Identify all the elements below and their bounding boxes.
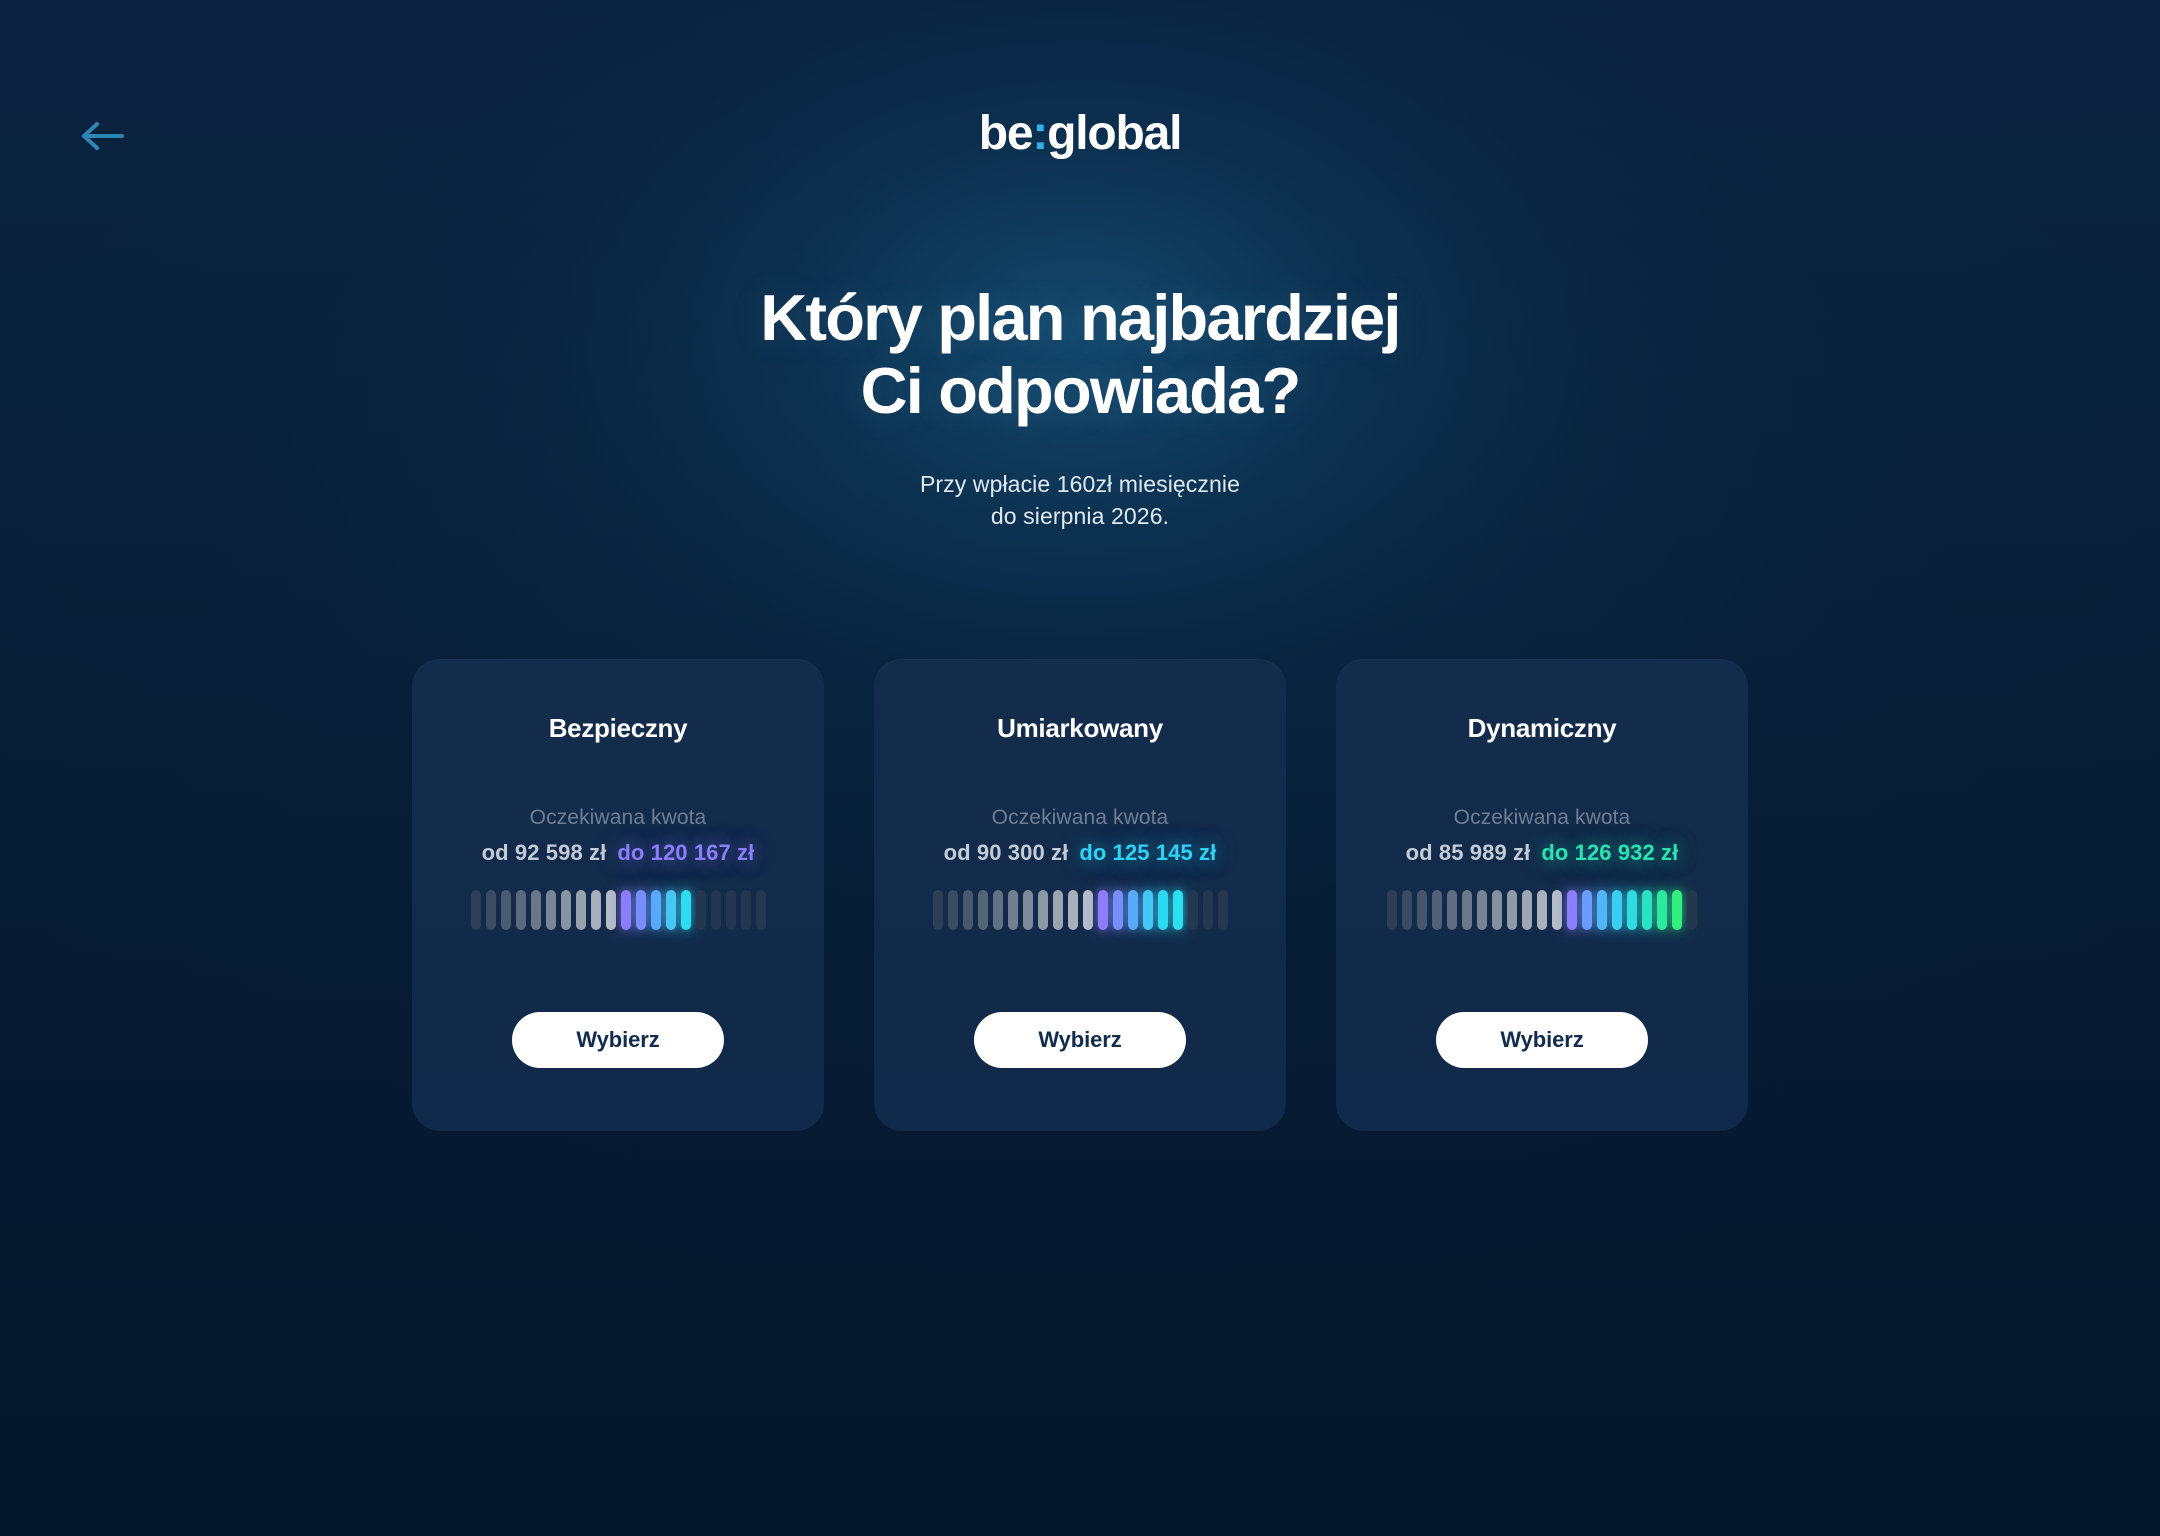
meter-bar xyxy=(531,890,541,930)
plan-card[interactable]: Dynamiczny Oczekiwana kwota od 85 989 zł… xyxy=(1336,659,1748,1131)
meter-bar xyxy=(1173,890,1183,930)
plan-name: Dynamiczny xyxy=(1468,713,1617,744)
hero-section: Który plan najbardziej Ci odpowiada? Prz… xyxy=(0,282,2160,533)
plan-amount-to: do 125 145 zł xyxy=(1079,840,1216,865)
meter-bar xyxy=(1477,890,1487,930)
meter-bar xyxy=(1462,890,1472,930)
plan-card-list: Bezpieczny Oczekiwana kwota od 92 598 zł… xyxy=(0,659,2160,1131)
meter-bar xyxy=(1552,890,1562,930)
meter-bar xyxy=(1612,890,1622,930)
plan-amount-to: do 126 932 zł xyxy=(1541,840,1678,865)
meter-bar xyxy=(756,890,766,930)
meter-bar xyxy=(1008,890,1018,930)
meter-bar xyxy=(471,890,481,930)
plan-amount-block: Oczekiwana kwota od 90 300 złdo 125 145 … xyxy=(874,806,1286,866)
meter-bar xyxy=(1522,890,1532,930)
meter-bar xyxy=(1672,890,1682,930)
meter-bar xyxy=(1053,890,1063,930)
meter-bar xyxy=(1657,890,1667,930)
meter-bar xyxy=(576,890,586,930)
brand-logo: be:global xyxy=(0,110,2160,158)
meter-bar xyxy=(963,890,973,930)
meter-bar xyxy=(516,890,526,930)
meter-bar xyxy=(591,890,601,930)
plan-name: Bezpieczny xyxy=(549,713,688,744)
choose-plan-button[interactable]: Wybierz xyxy=(1436,1012,1648,1068)
page-subtitle: Przy wpłacie 160zł miesięcznie do sierpn… xyxy=(0,468,2160,533)
meter-bar xyxy=(978,890,988,930)
page-title: Który plan najbardziej Ci odpowiada? xyxy=(0,282,2160,428)
meter-bar xyxy=(651,890,661,930)
plan-name: Umiarkowany xyxy=(997,713,1163,744)
choose-plan-button[interactable]: Wybierz xyxy=(974,1012,1186,1068)
meter-bar xyxy=(1687,890,1697,930)
meter-bar xyxy=(1582,890,1592,930)
meter-bar xyxy=(546,890,556,930)
brand-logo-colon: : xyxy=(1032,107,1047,160)
meter-bar xyxy=(1417,890,1427,930)
plan-amount-label: Oczekiwana kwota xyxy=(874,806,1286,830)
meter-bar xyxy=(1387,890,1397,930)
meter-bar xyxy=(1068,890,1078,930)
meter-bar xyxy=(993,890,1003,930)
meter-bar xyxy=(741,890,751,930)
meter-bar xyxy=(1447,890,1457,930)
meter-bar xyxy=(933,890,943,930)
plan-amount-range: od 92 598 złdo 120 167 zł xyxy=(412,840,824,866)
meter-bar xyxy=(1038,890,1048,930)
plan-selection-page: be:global Który plan najbardziej Ci odpo… xyxy=(0,0,2160,1536)
meter-bar xyxy=(621,890,631,930)
meter-bar xyxy=(1567,890,1577,930)
meter-bar xyxy=(726,890,736,930)
meter-bar xyxy=(1537,890,1547,930)
meter-bar xyxy=(1432,890,1442,930)
meter-bar xyxy=(1188,890,1198,930)
plan-amount-label: Oczekiwana kwota xyxy=(1336,806,1748,830)
plan-meter xyxy=(1387,888,1697,932)
plan-meter xyxy=(471,888,766,932)
meter-bar xyxy=(1402,890,1412,930)
meter-bar xyxy=(1023,890,1033,930)
brand-logo-pre: be xyxy=(979,107,1033,160)
plan-amount-from: od 92 598 zł xyxy=(482,840,607,865)
plan-amount-range: od 85 989 złdo 126 932 zł xyxy=(1336,840,1748,866)
plan-amount-from: od 90 300 zł xyxy=(944,840,1069,865)
meter-bar xyxy=(606,890,616,930)
choose-plan-button[interactable]: Wybierz xyxy=(512,1012,724,1068)
plan-amount-block: Oczekiwana kwota od 85 989 złdo 126 932 … xyxy=(1336,806,1748,866)
plan-amount-to: do 120 167 zł xyxy=(617,840,754,865)
meter-bar xyxy=(561,890,571,930)
plan-card[interactable]: Umiarkowany Oczekiwana kwota od 90 300 z… xyxy=(874,659,1286,1131)
meter-bar xyxy=(636,890,646,930)
meter-bar xyxy=(948,890,958,930)
meter-bar xyxy=(1128,890,1138,930)
plan-amount-from: od 85 989 zł xyxy=(1406,840,1531,865)
meter-bar xyxy=(1113,890,1123,930)
meter-bar xyxy=(1143,890,1153,930)
meter-bar xyxy=(1203,890,1213,930)
meter-bar xyxy=(501,890,511,930)
meter-bar xyxy=(1098,890,1108,930)
meter-bar xyxy=(1083,890,1093,930)
meter-bar xyxy=(666,890,676,930)
meter-bar xyxy=(681,890,691,930)
plan-amount-range: od 90 300 złdo 125 145 zł xyxy=(874,840,1286,866)
meter-bar xyxy=(1507,890,1517,930)
meter-bar xyxy=(1627,890,1637,930)
meter-bar xyxy=(1597,890,1607,930)
meter-bar xyxy=(1642,890,1652,930)
meter-bar xyxy=(1218,890,1228,930)
brand-logo-post: global xyxy=(1047,107,1181,160)
meter-bar xyxy=(1158,890,1168,930)
meter-bar xyxy=(696,890,706,930)
meter-bar xyxy=(1492,890,1502,930)
plan-card[interactable]: Bezpieczny Oczekiwana kwota od 92 598 zł… xyxy=(412,659,824,1131)
plan-amount-block: Oczekiwana kwota od 92 598 złdo 120 167 … xyxy=(412,806,824,866)
meter-bar xyxy=(486,890,496,930)
top-bar: be:global xyxy=(0,0,2160,210)
meter-bar xyxy=(711,890,721,930)
plan-amount-label: Oczekiwana kwota xyxy=(412,806,824,830)
plan-meter xyxy=(933,888,1228,932)
